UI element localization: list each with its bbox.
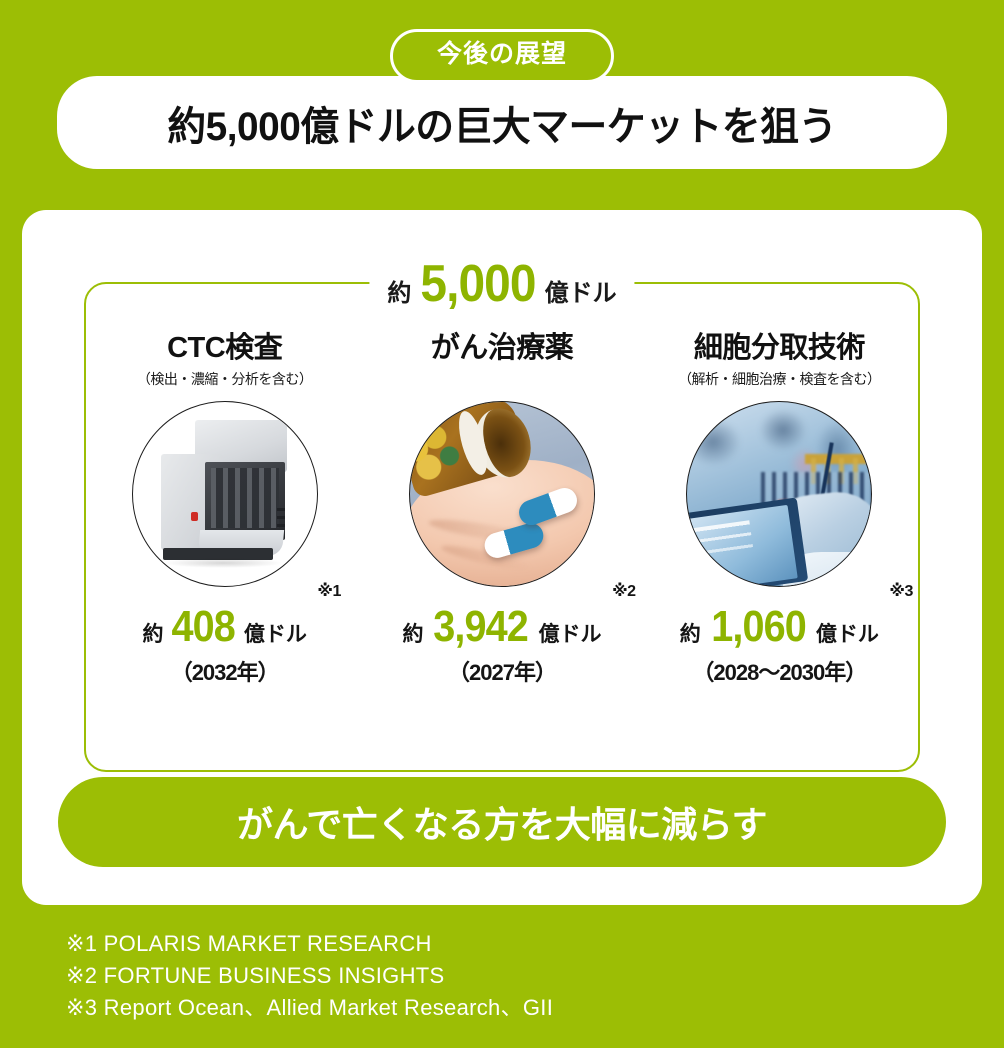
footnote-marker: ※2 [612, 581, 635, 601]
hand-with-capsules-image [409, 401, 595, 587]
header-title-pill: 約5,000億ドルの巨大マーケットを狙う [57, 76, 947, 169]
value-unit-label: 億ドル [539, 618, 602, 648]
total-approx-label: 約 [387, 273, 411, 308]
device-port-dots [277, 508, 285, 530]
column-value: 約 408 億ドル ※1 [142, 605, 306, 649]
column-title: 細胞分取技術 [694, 332, 865, 365]
total-number: 5,000 [420, 258, 535, 310]
column-value: 約 1,060 億ドル ※3 [680, 605, 879, 649]
column-subtitle: （解析・細胞治療・検査を含む） [678, 369, 881, 387]
device-led-indicator [191, 512, 198, 521]
device-shadow [163, 558, 283, 568]
column-subtitle: （検出・濃縮・分析を含む） [137, 369, 313, 387]
market-column-ctc: CTC検査 （検出・濃縮・分析を含む） 約 408 億ドル [86, 332, 363, 687]
total-market-value: 約 5,000 億ドル [369, 258, 634, 310]
page-title: 約5,000億ドルの巨大マーケットを狙う [167, 94, 836, 152]
header-badge: 今後の展望 [390, 29, 614, 83]
footnotes-section: ※1 POLARIS MARKET RESEARCH ※2 FORTUNE BU… [66, 928, 553, 1024]
value-year: （2027年） [448, 655, 556, 687]
lab-tablet-device [686, 498, 808, 587]
goal-banner-text: がんで亡くなる方を大幅に減らす [237, 796, 767, 848]
value-approx-label: 約 [680, 618, 701, 648]
footnote-marker: ※1 [317, 581, 340, 601]
market-column-cell-sorting: 細胞分取技術 （解析・細胞治療・検査を含む） [641, 332, 918, 687]
lab-analyzer-device-image [132, 401, 318, 587]
header-section: 今後の展望 約5,000億ドルの巨大マーケットを狙う [0, 0, 1004, 210]
total-unit-label: 億ドル [545, 273, 617, 308]
value-year: （2032年） [171, 655, 279, 687]
value-unit-label: 億ドル [816, 618, 879, 648]
footnote-3: ※3 Report Ocean、Allied Market Research、G… [66, 992, 553, 1024]
laboratory-scene-image [686, 401, 872, 587]
value-number: 1,060 [711, 605, 806, 649]
value-number: 408 [172, 605, 235, 649]
main-content-card: 約 5,000 億ドル CTC検査 （検出・濃縮・分析を含む） [22, 210, 982, 905]
market-column-cancer-drugs: がん治療薬 約 3,942 億ドル ※2 [363, 332, 640, 687]
value-year: （2028～2030年） [692, 655, 866, 687]
column-title: がん治療薬 [431, 332, 574, 365]
footnote-marker: ※3 [889, 581, 912, 601]
tablet-screen-content [686, 521, 755, 568]
market-columns: CTC検査 （検出・濃縮・分析を含む） 約 408 億ドル [86, 332, 918, 687]
value-number: 3,942 [434, 605, 529, 649]
value-approx-label: 約 [142, 618, 163, 648]
footnote-1: ※1 POLARIS MARKET RESEARCH [66, 928, 553, 960]
footnote-2: ※2 FORTUNE BUSINESS INSIGHTS [66, 960, 553, 992]
value-unit-label: 億ドル [244, 618, 307, 648]
column-value: 約 3,942 億ドル ※2 [402, 605, 601, 649]
device-rack [211, 468, 279, 528]
goal-banner: がんで亡くなる方を大幅に減らす [58, 777, 946, 867]
tablet-screen [686, 505, 798, 587]
column-title: CTC検査 [167, 332, 282, 365]
market-size-panel: 約 5,000 億ドル CTC検査 （検出・濃縮・分析を含む） [84, 282, 920, 772]
value-approx-label: 約 [402, 618, 423, 648]
